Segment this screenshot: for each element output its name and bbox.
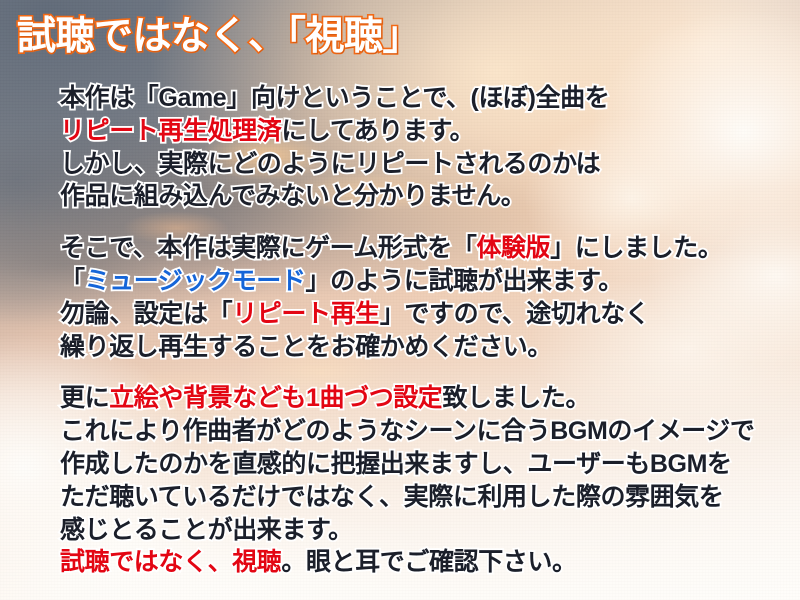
body-text: 繰り返し再生することをお確かめください。 (60, 333, 552, 361)
body-text: しかし、実際にどのようにリピートされるのかは (60, 150, 600, 178)
text-line: 勿論、設定は「リピート再生」ですので、途切れなく (60, 298, 800, 331)
paragraph: そこで、本作は実際にゲーム形式を「体験版」にしました。「ミュージックモード」のよ… (60, 232, 800, 363)
highlighted-text-red: 立絵や背景なども1曲づつ設定 (109, 384, 442, 412)
body-text: 。眼と耳でご確認下さい。 (281, 548, 576, 576)
body-text: 」にしました。 (550, 234, 722, 262)
highlighted-text-red: リピート再生処理済 (60, 117, 281, 145)
highlighted-text-red: 試聴ではなく、視聴 (60, 548, 281, 576)
body-text: そこで、本作は実際にゲーム形式を「 (60, 234, 476, 262)
body-text: 勿論、設定は「 (60, 300, 232, 328)
text-line: 繰り返し再生することをお確かめください。 (60, 331, 800, 364)
text-line: そこで、本作は実際にゲーム形式を「体験版」にしました。 (60, 232, 800, 265)
page-title: 試聴ではなく、「視聴」 (17, 16, 421, 59)
body-text: 「 (60, 267, 85, 295)
body-text: にしてあります。 (281, 117, 474, 145)
body-text: 作品に組み込んでみないと分かりません。 (60, 182, 525, 210)
text-line: 作成したのかを直感的に把握出来ますし、ユーザーもBGMを (60, 448, 800, 481)
highlighted-text-blue: ミュージックモード (85, 267, 306, 295)
highlighted-text-red: 体験版 (476, 234, 550, 262)
text-line: これにより作曲者がどのようなシーンに合うBGMのイメージで (60, 415, 800, 448)
text-line: 「ミュージックモード」のように試聴が出来ます。 (60, 265, 800, 298)
text-content: 試聴ではなく、「視聴」 本作は「Game」向けということで、(ほぼ)全曲をリピー… (0, 0, 800, 600)
body-copy: 本作は「Game」向けということで、(ほぼ)全曲をリピート再生処理済にしてありま… (60, 82, 800, 579)
text-line: リピート再生処理済にしてあります。 (60, 115, 800, 148)
body-text: 致しました。 (443, 384, 591, 412)
text-line: 更に立絵や背景なども1曲づつ設定致しました。 (60, 382, 800, 415)
highlighted-text-red: リピート再生 (232, 300, 380, 328)
body-text: 」のように試聴が出来ます。 (306, 267, 623, 295)
text-line: 感じとることが出来ます。 (60, 514, 800, 547)
body-text: 更に (60, 384, 109, 412)
body-text: 」ですので、途切れなく (380, 300, 650, 328)
body-text: ただ聴いているだけではなく、実際に利用した際の雰囲気を (60, 483, 723, 511)
text-line: ただ聴いているだけではなく、実際に利用した際の雰囲気を (60, 481, 800, 514)
promo-banner: 試聴ではなく、「視聴」 本作は「Game」向けということで、(ほぼ)全曲をリピー… (0, 0, 800, 600)
body-text: 感じとることが出来ます。 (60, 516, 353, 544)
body-text: これにより作曲者がどのようなシーンに合うBGMのイメージで (60, 417, 754, 445)
text-line: 試聴ではなく、視聴。眼と耳でご確認下さい。 (60, 546, 800, 579)
text-line: 本作は「Game」向けということで、(ほぼ)全曲を (60, 82, 800, 115)
body-text: 作成したのかを直感的に把握出来ますし、ユーザーもBGMを (60, 450, 732, 478)
paragraph: 本作は「Game」向けということで、(ほぼ)全曲をリピート再生処理済にしてありま… (60, 82, 800, 213)
text-line: 作品に組み込んでみないと分かりません。 (60, 180, 800, 213)
paragraph: 更に立絵や背景なども1曲づつ設定致しました。これにより作曲者がどのようなシーンに… (60, 382, 800, 579)
body-text: 本作は「Game」向けということで、(ほぼ)全曲を (60, 84, 609, 112)
text-line: しかし、実際にどのようにリピートされるのかは (60, 148, 800, 181)
